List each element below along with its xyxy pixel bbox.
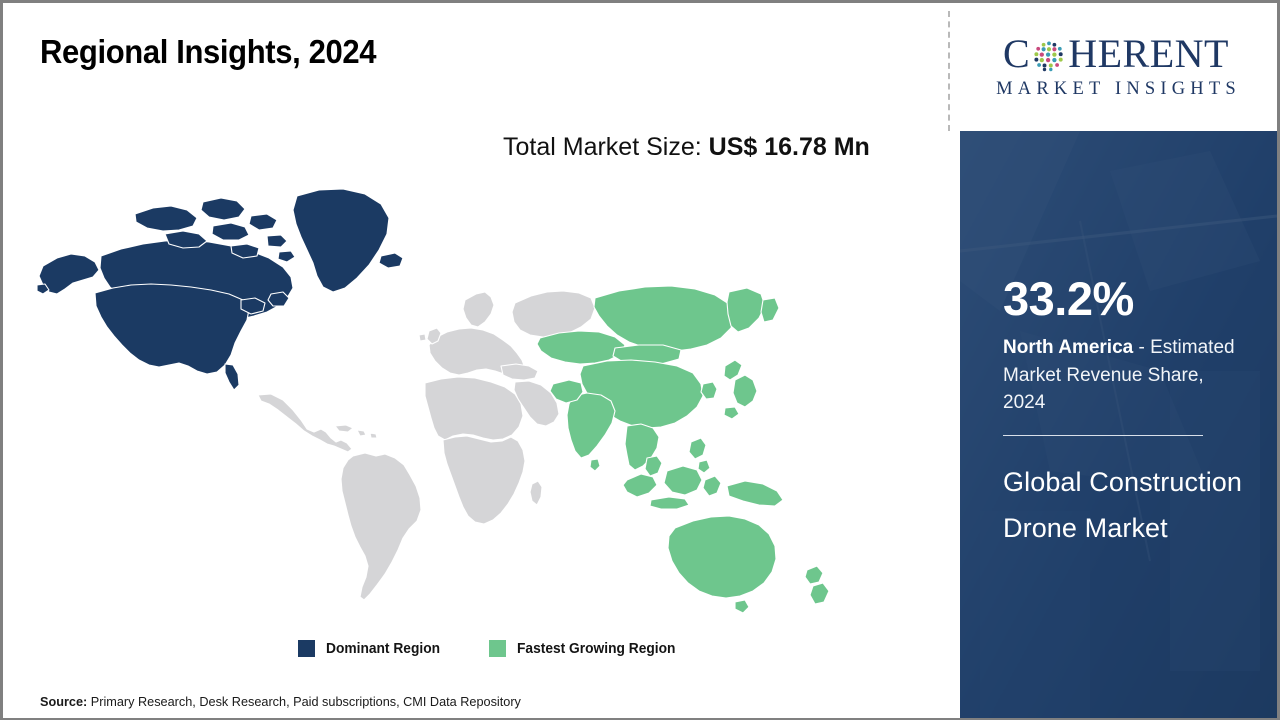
- legend-item-dominant: Dominant Region: [298, 640, 446, 657]
- market-name: Global Construction Drone Market: [1003, 460, 1249, 551]
- stat-divider-rule: [1003, 435, 1203, 436]
- vertical-dashed-divider: [948, 11, 950, 131]
- logo-letter-c: C: [1003, 34, 1030, 74]
- map-region-north-america: [37, 189, 403, 390]
- right-column: C: [955, 3, 1277, 718]
- logo-tagline: MARKET INSIGHTS: [991, 79, 1241, 100]
- stat-content: 33.2% North America - Estimated Market R…: [960, 131, 1277, 551]
- map-region-asia-pacific: [537, 286, 829, 613]
- total-market-size: Total Market Size: US$ 16.78 Mn: [503, 128, 903, 168]
- stat-value: 33.2%: [1003, 275, 1249, 322]
- legend-label-fastest-growing: Fastest Growing Region: [517, 641, 675, 657]
- legend-item-fastest-growing: Fastest Growing Region: [489, 640, 684, 657]
- map-legend: Dominant Region Fastest Growing Region: [298, 640, 684, 657]
- infographic-page: Regional Insights, 2024 Total Market Siz…: [3, 3, 1277, 718]
- logo-wordmark: C: [1003, 34, 1229, 74]
- world-map: [35, 188, 835, 618]
- stat-region-name: North America: [1003, 337, 1133, 358]
- dotted-globe-icon: [1031, 38, 1067, 74]
- page-title: Regional Insights, 2024: [40, 33, 376, 71]
- brand-logo: C: [955, 3, 1277, 131]
- market-size-value: US$ 16.78 Mn: [709, 133, 870, 161]
- source-label: Source:: [40, 695, 87, 709]
- source-text: Primary Research, Desk Research, Paid su…: [87, 695, 521, 709]
- stat-panel: 33.2% North America - Estimated Market R…: [960, 131, 1277, 718]
- source-note: Source: Primary Research, Desk Research,…: [40, 695, 521, 709]
- legend-label-dominant: Dominant Region: [326, 641, 440, 657]
- legend-swatch-fastest-growing-icon: [489, 640, 506, 657]
- legend-swatch-dominant-icon: [298, 640, 315, 657]
- stat-description: North America - Estimated Market Revenue…: [1003, 334, 1249, 417]
- logo-wordmark-rest: HERENT: [1068, 34, 1229, 74]
- market-size-label: Total Market Size:: [503, 133, 709, 161]
- left-content-panel: Regional Insights, 2024 Total Market Siz…: [3, 3, 948, 718]
